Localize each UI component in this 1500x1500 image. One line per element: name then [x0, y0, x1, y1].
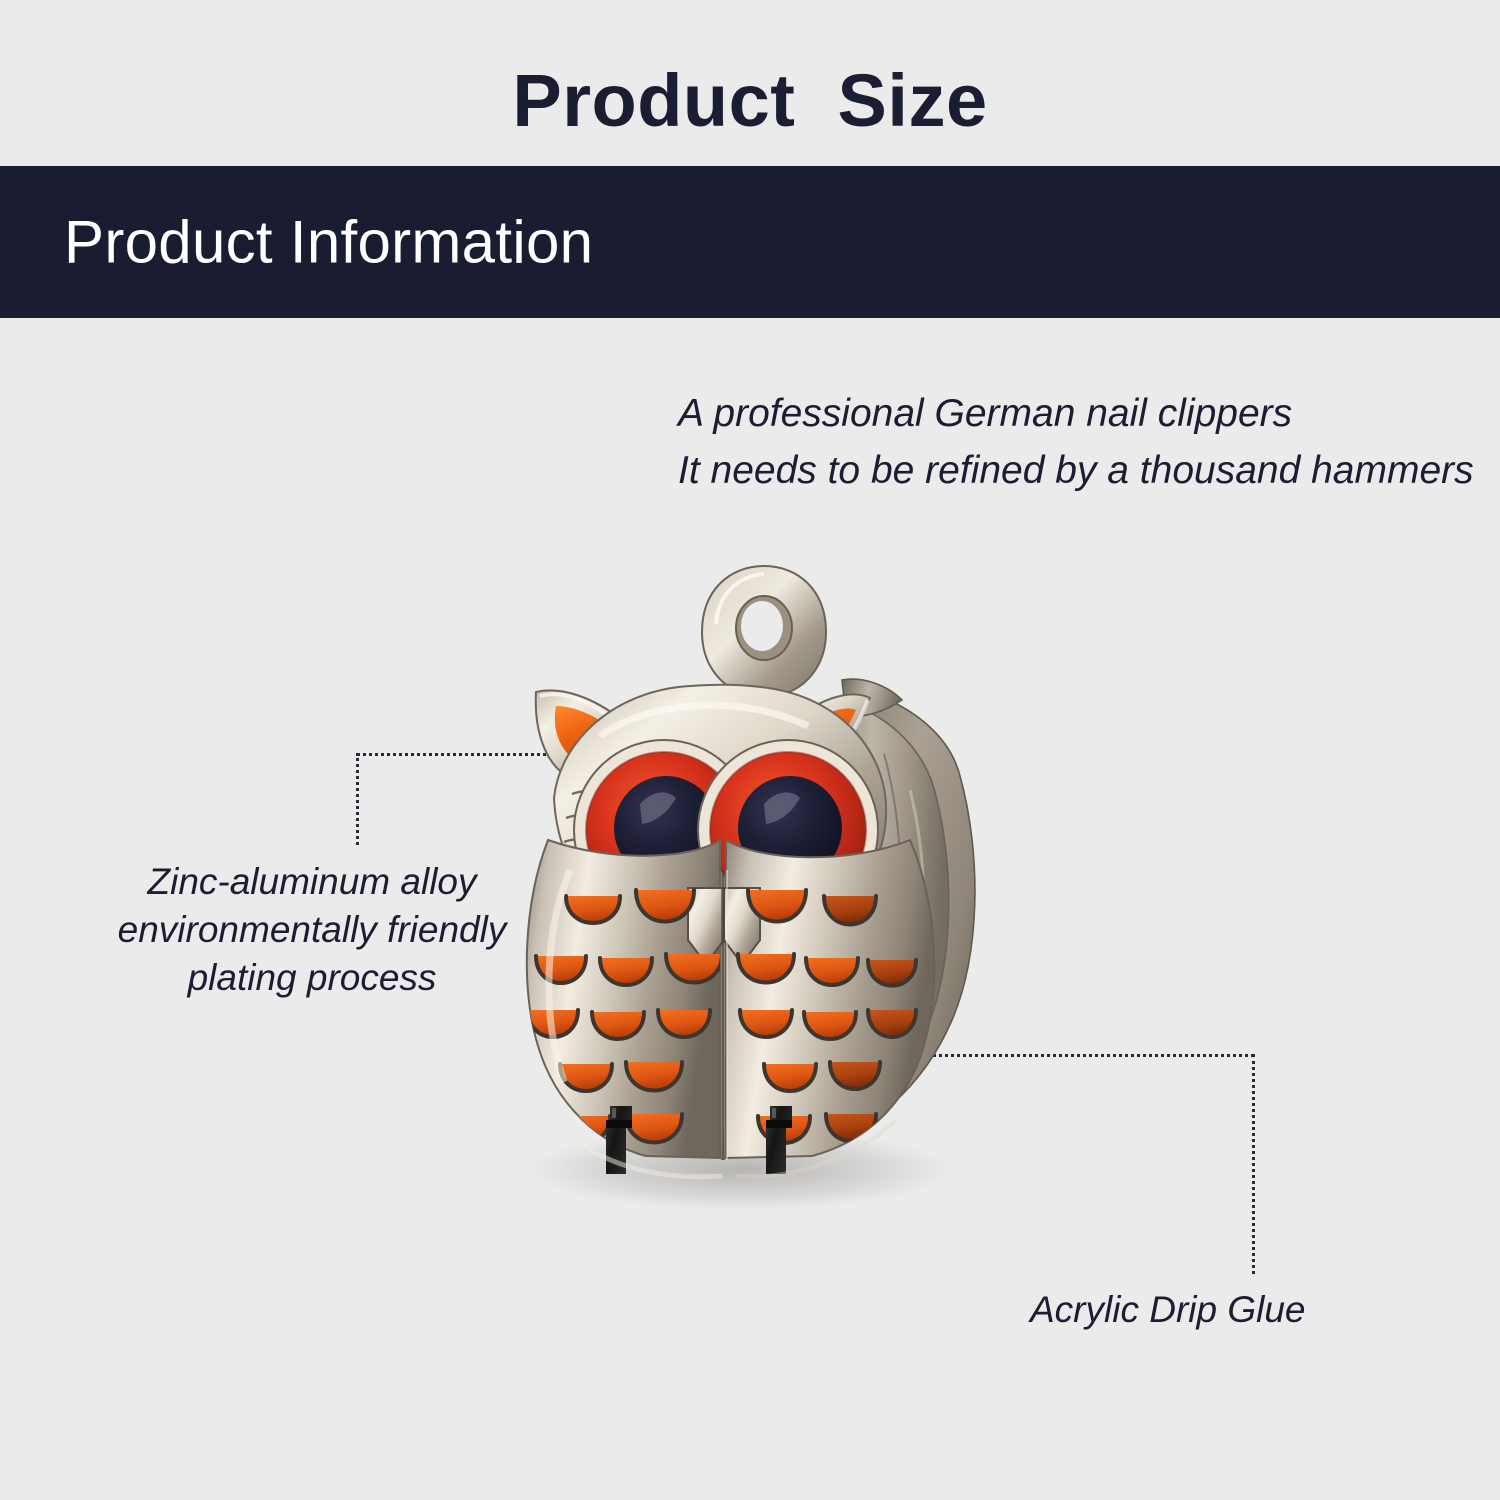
banner-label: Product Information	[64, 208, 593, 277]
owl-illustration	[440, 540, 1060, 1220]
tagline-line-1: A professional German nail clippers	[678, 385, 1474, 442]
callout-right: Acrylic Drip Glue	[1030, 1286, 1360, 1334]
product-info-infographic: Product Size Product Information A profe…	[0, 0, 1500, 1500]
page-title: Product Size	[0, 58, 1500, 143]
leader-line-left-vertical	[356, 753, 359, 845]
callout-right-line-1: Acrylic Drip Glue	[1030, 1286, 1360, 1334]
tagline-line-2: It needs to be refined by a thousand ham…	[678, 442, 1474, 499]
keyring-loop	[702, 566, 826, 694]
section-banner: Product Information	[0, 166, 1500, 318]
product-image-owl-nail-clipper	[440, 540, 1060, 1220]
leader-line-right-vertical	[1252, 1054, 1255, 1274]
tagline-block: A professional German nail clippers It n…	[678, 385, 1474, 499]
